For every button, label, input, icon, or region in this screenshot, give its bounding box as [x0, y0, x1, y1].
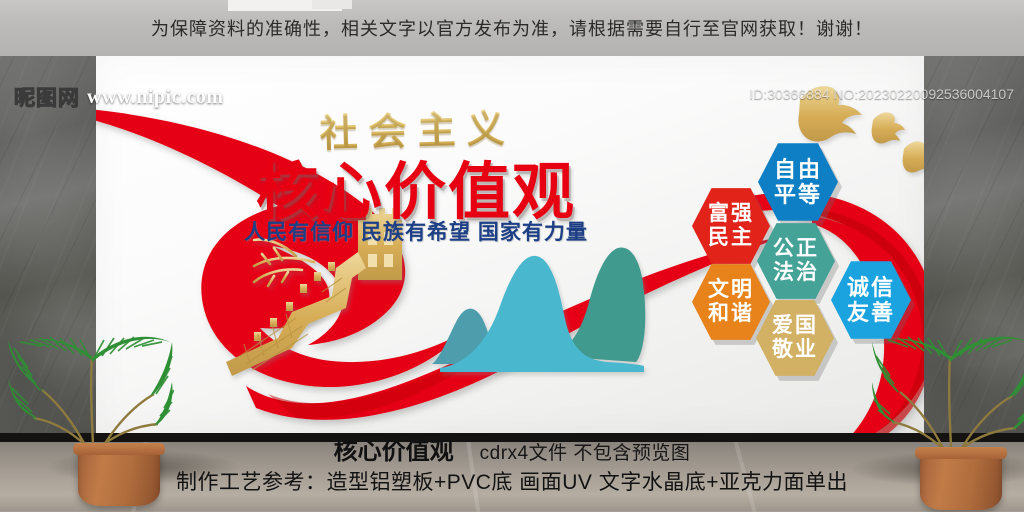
interior-scene: 社会主义 核心价值观 人民有信仰 民族有希望 国家有力量 富强民主自由平等公正法…: [0, 56, 1024, 512]
site-watermark: 昵图网 www.nipic.com: [14, 82, 224, 112]
disclaimer-text: 为保障资料的准确性，相关文字以官方发布为准，请根据需要自行至官网获取！谢谢！: [0, 15, 1024, 41]
screenshot-canvas: 为保障资料的准确性，相关文字以官方发布为准，请根据需要自行至官网获取！谢谢！: [0, 0, 1024, 512]
hexagon-label-line2: 和谐: [708, 302, 754, 326]
potted-palm-left: [6, 294, 174, 466]
flower-pot-right: [920, 448, 1002, 510]
hexagon-label-line2: 民主: [708, 226, 754, 250]
hexagon-label-line2: 敬业: [772, 338, 818, 362]
brand-name-cn: 昵图网: [14, 82, 80, 112]
pot-rim: [915, 447, 1007, 459]
asset-id-code: ID:30366884 NO:20230220092536004107: [749, 86, 1014, 102]
page-subtitle: 人民有信仰 民族有希望 国家有力量: [226, 216, 606, 246]
hexagon-label-line1: 公正: [773, 237, 819, 261]
disclaimer-bar: 为保障资料的准确性，相关文字以官方发布为准，请根据需要自行至官网获取！谢谢！: [0, 0, 1024, 56]
dove-icon-small-a: [872, 112, 905, 143]
bar-notch-right: [312, 0, 352, 9]
pot-rim: [73, 443, 165, 455]
mountain-group: [432, 247, 645, 372]
hexagon-label-line1: 自由: [774, 157, 822, 182]
culture-wall-board: 社会主义 核心价值观 人民有信仰 民族有希望 国家有力量 富强民主自由平等公正法…: [96, 56, 924, 433]
hexagon-label-line1: 文明: [708, 278, 754, 302]
hexagon-label-line1: 富强: [708, 202, 754, 226]
dove-icon-small-b: [903, 141, 924, 172]
potted-palm-right: [872, 294, 1024, 470]
hexagon-label-line2: 平等: [774, 182, 822, 207]
hexagon-label-line1: 爱国: [772, 314, 818, 338]
hexagon-label-line2: 法治: [773, 261, 819, 285]
flower-pot-left: [78, 444, 160, 506]
brand-url: www.nipic.com: [87, 86, 224, 109]
